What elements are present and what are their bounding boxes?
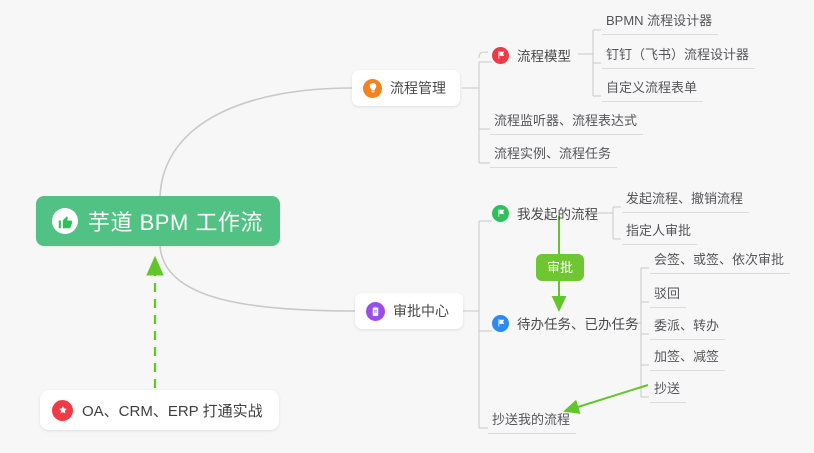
leaf-delegate-transfer[interactable]: 委派、转办 — [650, 317, 725, 340]
connector-pm-corner-top — [479, 52, 488, 58]
connector-root-to-process-management — [160, 88, 352, 196]
connector-model-branches — [593, 30, 601, 96]
leaf-cc-my-process[interactable]: 抄送我的流程 — [488, 411, 576, 434]
leaf-carbon-copy[interactable]: 抄送 — [650, 380, 686, 403]
leaf-bpmn-designer[interactable]: BPMN 流程设计器 — [602, 12, 718, 35]
clipboard-icon — [366, 302, 385, 321]
connector-started-branches — [613, 207, 621, 239]
branch-label-process-management: 流程管理 — [390, 78, 446, 98]
node-my-started-process[interactable]: 我发起的流程 — [492, 203, 598, 223]
leaf-start-cancel-process[interactable]: 发起流程、撤销流程 — [622, 190, 749, 213]
node-label-my-started-process: 我发起的流程 — [517, 203, 598, 223]
leaf-custom-process-form[interactable]: 自定义流程表单 — [602, 79, 703, 102]
connector-todo-branches — [641, 268, 649, 397]
branch-node-approval-center[interactable]: 审批中心 — [355, 293, 463, 329]
node-oa-crm-erp[interactable]: OA、CRM、ERP 打通实战 — [40, 390, 279, 430]
root-label: 芋道 BPM 工作流 — [88, 205, 263, 237]
node-label-process-model: 流程模型 — [517, 45, 571, 65]
leaf-process-instance[interactable]: 流程实例、流程任务 — [490, 145, 617, 168]
leaf-process-listener[interactable]: 流程监听器、流程表达式 — [490, 112, 643, 135]
leaf-countersign[interactable]: 会签、或签、依次审批 — [650, 251, 790, 274]
branch-label-approval-center: 审批中心 — [393, 301, 449, 321]
connector-root-to-approval-center — [160, 246, 355, 311]
root-node[interactable]: 芋道 BPM 工作流 — [36, 196, 280, 246]
node-label-oa-crm-erp: OA、CRM、ERP 打通实战 — [82, 400, 263, 421]
flag-icon — [492, 315, 509, 332]
flag-icon — [492, 47, 509, 64]
leaf-reject[interactable]: 驳回 — [650, 285, 686, 308]
mindmap-canvas: 芋道 BPM 工作流 流程管理 流程模型 BPMN 流程设计器 钉钉（飞书）流程… — [0, 0, 814, 453]
leaf-assignee-approval[interactable]: 指定人审批 — [622, 222, 697, 245]
connector-ac-branches — [479, 221, 492, 428]
branch-node-process-management[interactable]: 流程管理 — [352, 70, 460, 106]
node-todo-done-task[interactable]: 待办任务、已办任务 — [492, 313, 639, 333]
leaf-add-remove-sign[interactable]: 加签、减签 — [650, 348, 725, 371]
node-label-todo-done-task: 待办任务、已办任务 — [517, 313, 639, 333]
annotation-arrow-cc-to-ccmine — [565, 385, 648, 411]
flag-icon — [492, 205, 509, 222]
thumbs-up-icon — [52, 208, 78, 234]
star-icon — [52, 400, 73, 421]
node-process-model[interactable]: 流程模型 — [492, 45, 571, 65]
leaf-dingtalk-designer[interactable]: 钉钉（飞书）流程设计器 — [602, 46, 755, 69]
lightbulb-icon — [363, 79, 382, 98]
annotation-badge-approve: 审批 — [536, 254, 584, 281]
